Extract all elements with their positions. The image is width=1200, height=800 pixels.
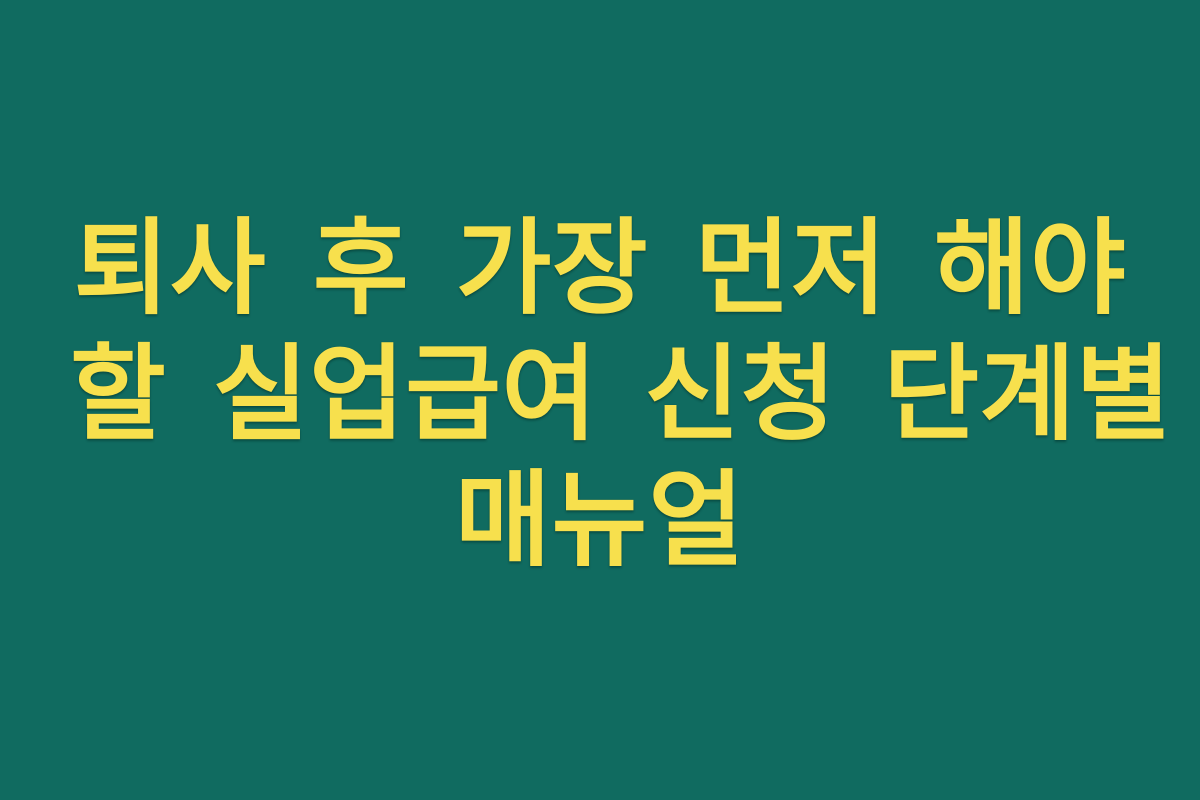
title-line-1: 퇴사 후 가장 먼저 해야	[70, 205, 1130, 331]
title-line-2: 할 실업급여 신청 단계별	[70, 331, 1130, 457]
title-line-3: 매뉴얼	[70, 457, 1130, 583]
thumbnail-canvas: 퇴사 후 가장 먼저 해야 할 실업급여 신청 단계별 매뉴얼	[0, 0, 1200, 800]
page-title: 퇴사 후 가장 먼저 해야 할 실업급여 신청 단계별 매뉴얼	[70, 205, 1130, 583]
